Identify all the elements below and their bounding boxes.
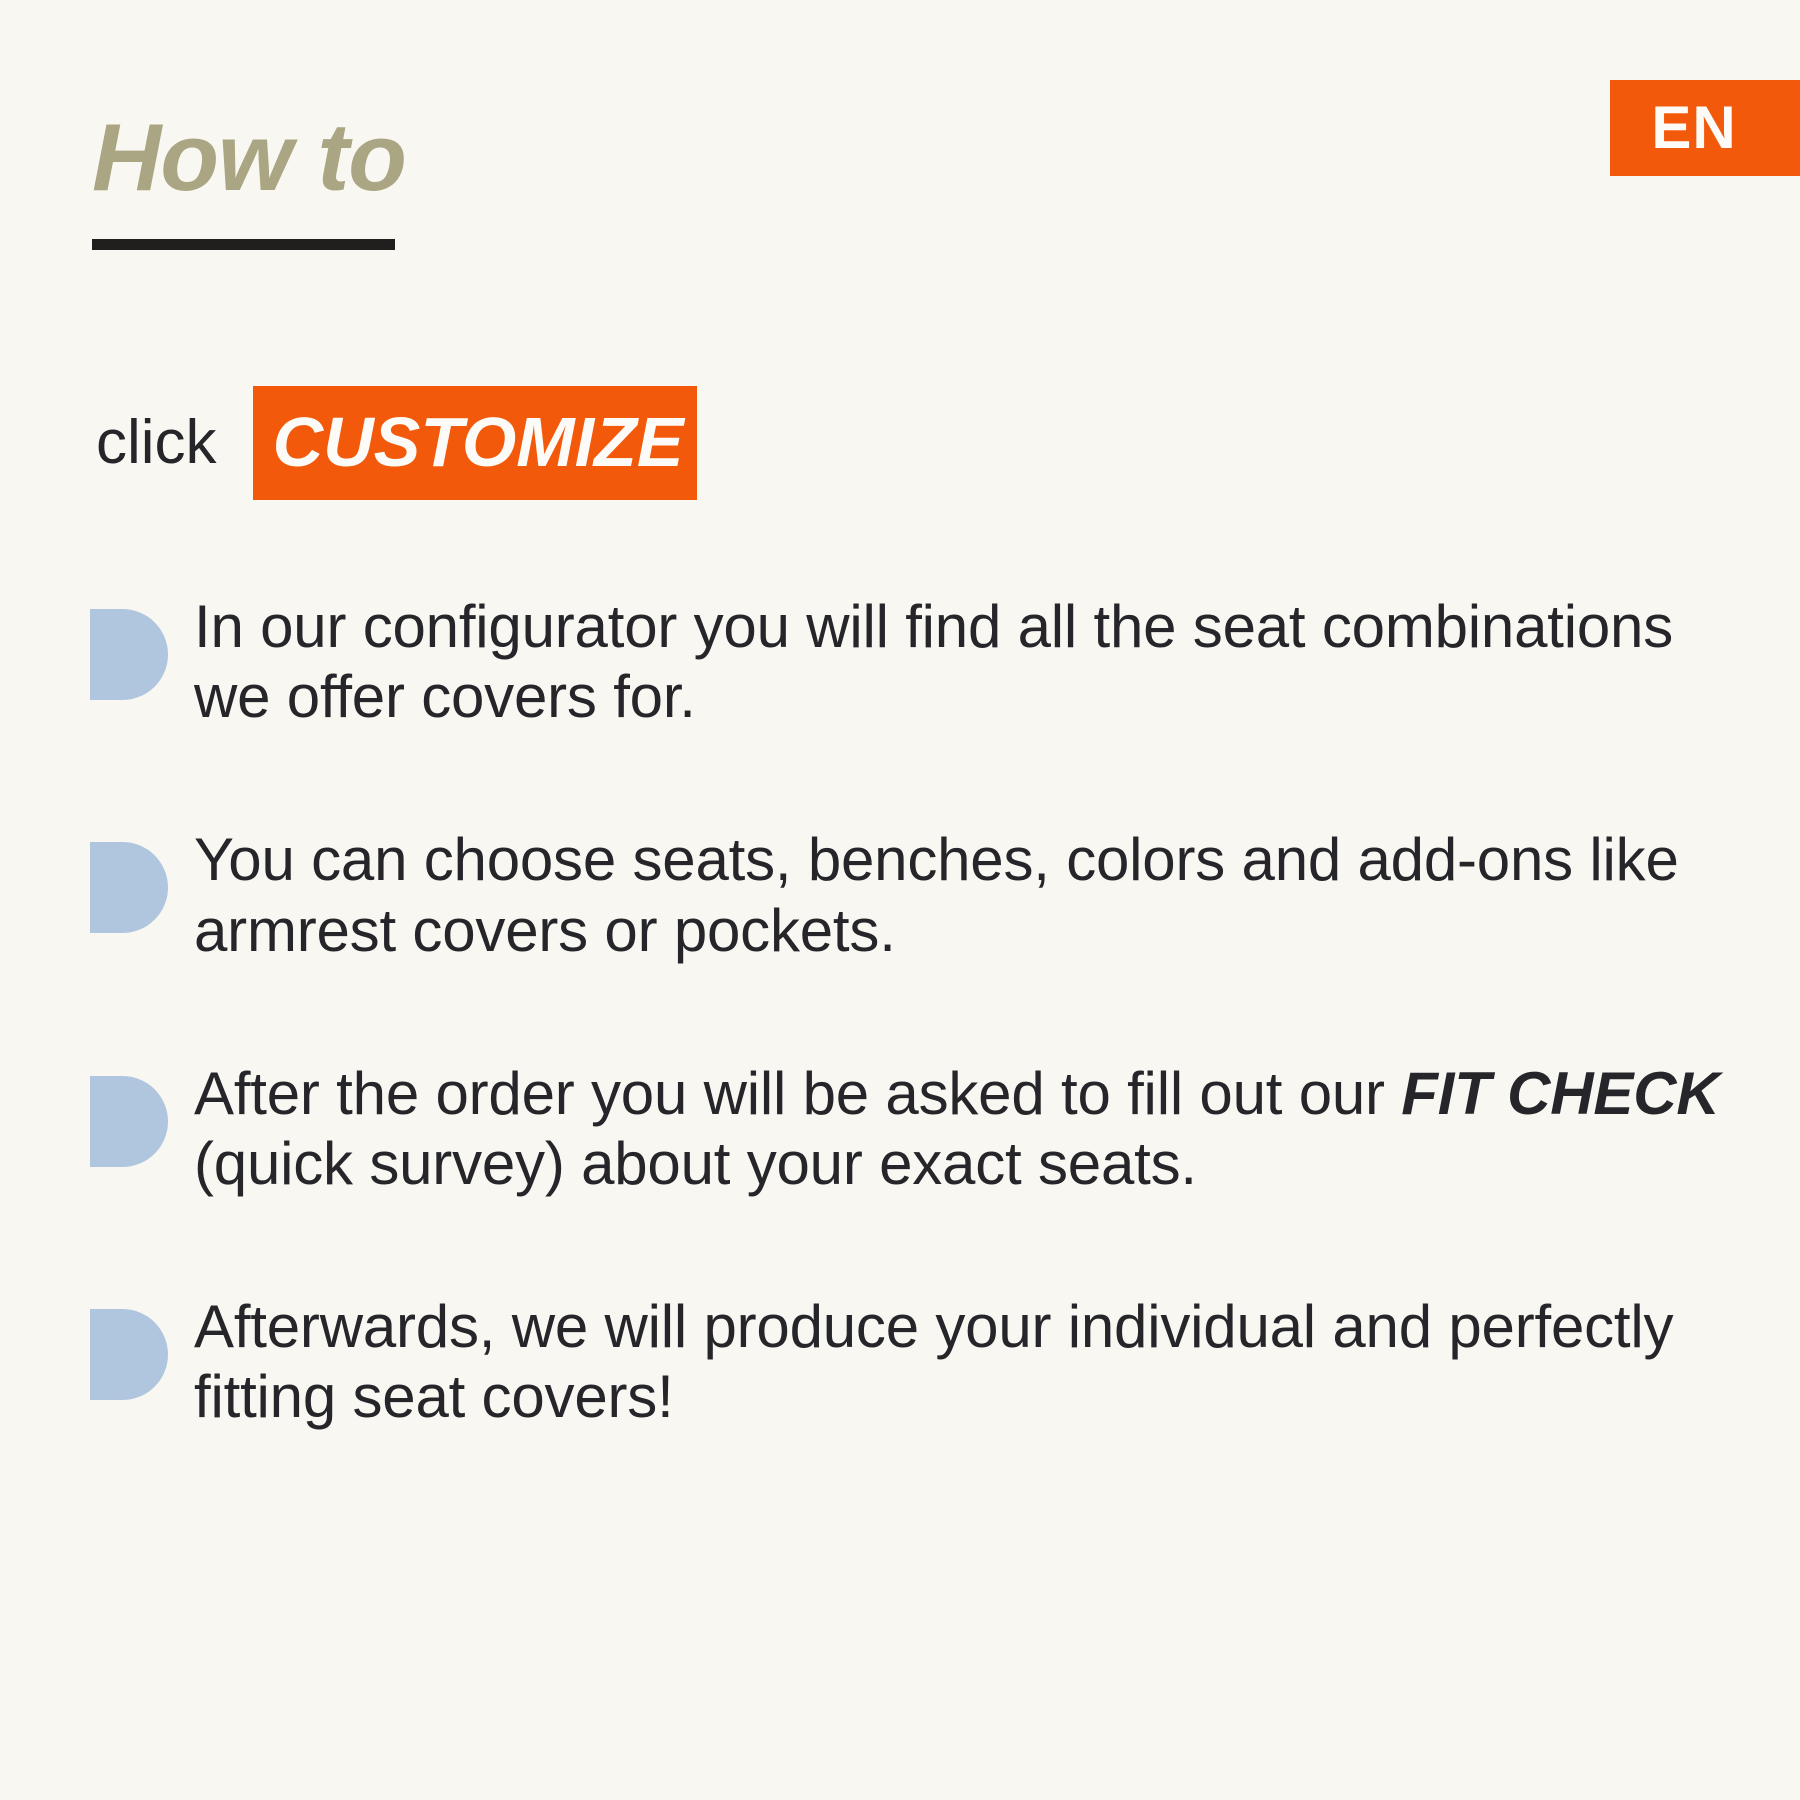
cta-prefix-label: click: [96, 412, 217, 474]
language-badge-label: EN: [1651, 98, 1736, 158]
list-item: In our configurator you will find all th…: [90, 592, 1750, 732]
bullet-marker-icon: [90, 842, 168, 933]
heading-underline-rule: [92, 239, 395, 250]
list-item-text: You can choose seats, benches, colors an…: [194, 825, 1750, 965]
body-text: In our configurator you will find all th…: [194, 593, 1673, 730]
list-item-text: Afterwards, we will produce your individ…: [194, 1292, 1750, 1432]
body-text: (quick survey) about your exact seats.: [194, 1130, 1197, 1197]
list-item: After the order you will be asked to fil…: [90, 1059, 1750, 1199]
list-item: You can choose seats, benches, colors an…: [90, 825, 1750, 965]
list-item-text: In our configurator you will find all th…: [194, 592, 1750, 732]
list-item: Afterwards, we will produce your individ…: [90, 1292, 1750, 1432]
emphasis-text: FIT CHECK: [1401, 1060, 1719, 1127]
body-text: You can choose seats, benches, colors an…: [194, 826, 1679, 963]
infographic-page: EN How to click CUSTOMIZE In our configu…: [0, 0, 1800, 1800]
cta-line: click CUSTOMIZE: [96, 393, 697, 493]
body-text: Afterwards, we will produce your individ…: [194, 1293, 1673, 1430]
language-badge[interactable]: EN: [1610, 80, 1800, 176]
bullet-marker-icon: [90, 609, 168, 700]
steps-list: In our configurator you will find all th…: [90, 592, 1750, 1433]
heading-block: How to: [92, 108, 406, 250]
body-text: After the order you will be asked to fil…: [194, 1060, 1401, 1127]
list-item-text: After the order you will be asked to fil…: [194, 1059, 1750, 1199]
customize-button[interactable]: CUSTOMIZE: [253, 386, 697, 500]
page-title: How to: [92, 108, 406, 209]
bullet-marker-icon: [90, 1076, 168, 1167]
bullet-marker-icon: [90, 1309, 168, 1400]
